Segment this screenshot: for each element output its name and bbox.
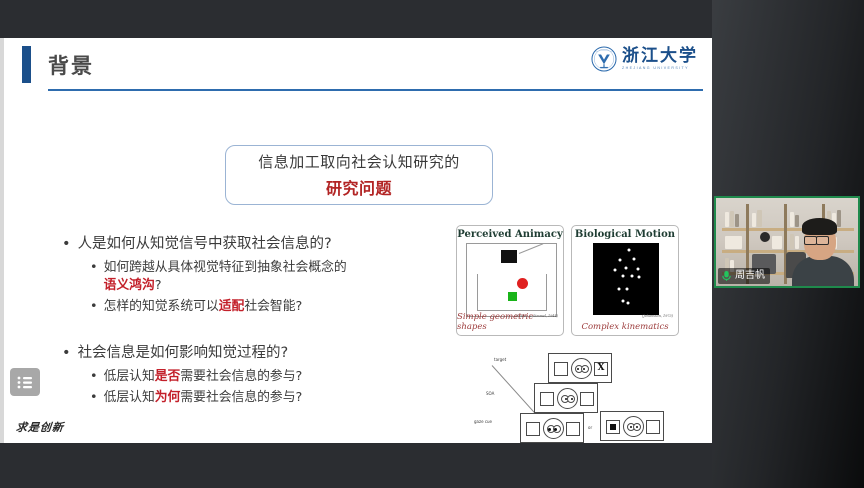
panel-citation: (Johansson, 1973)	[642, 314, 673, 318]
panel-biological-motion: Biological Motion	[571, 225, 679, 336]
book	[757, 210, 762, 227]
sub-bullet: • 怎样的知觉系统可以适配社会智能?	[90, 298, 462, 317]
person-hair	[802, 218, 837, 235]
bottom-letterbox-bar	[0, 443, 712, 488]
slide-menu-button[interactable]	[10, 368, 40, 396]
green-square-shape	[508, 292, 517, 301]
bullet-marker: •	[62, 234, 71, 256]
logo-english-name: ZHEJIANG UNIVERSITY	[622, 67, 698, 71]
left-pupil	[577, 368, 580, 371]
heider-simmel-figure	[466, 243, 557, 317]
book	[795, 236, 799, 249]
left-pupil	[548, 428, 551, 431]
bullet-marker: •	[90, 298, 98, 317]
target-box-left	[606, 420, 620, 434]
bullet-lead-text: 社会信息是如何影响知觉过程的?	[78, 343, 289, 365]
gaze-cueing-diagram: target SOA gaze cue fixation or X	[470, 351, 700, 443]
highlight-term: 是否	[155, 369, 181, 384]
list-menu-icon	[17, 376, 33, 389]
eyeglasses-right	[816, 236, 829, 245]
right-eye	[567, 395, 575, 403]
bullet-marker: •	[90, 389, 98, 408]
sub-bullet: • 如何跨越从具体视觉特征到抽象社会概念的语义鸿沟?	[90, 259, 462, 296]
label-or: or	[588, 425, 592, 430]
right-pupil	[554, 428, 557, 431]
right-eye	[581, 365, 589, 373]
storage-box	[772, 236, 782, 249]
title-accent-bar	[22, 46, 31, 83]
right-placeholder-box	[646, 420, 660, 434]
right-pupil	[583, 368, 586, 371]
book	[730, 211, 734, 227]
right-eye	[633, 423, 641, 431]
sub-bullet-text: 低层认知为何需要社会信息的参与?	[104, 389, 303, 408]
book	[795, 215, 799, 227]
book	[790, 234, 794, 249]
left-placeholder-box	[540, 392, 554, 406]
top-letterbox-bar	[0, 0, 712, 38]
door-line	[519, 243, 543, 254]
left-placeholder-box	[554, 362, 568, 376]
storage-box	[725, 236, 742, 249]
trial-frame-target: X	[548, 353, 612, 383]
panel-perceived-animacy: Perceived Animacy (Heider & Simmel, 1944…	[456, 225, 564, 336]
label-target: target	[494, 357, 506, 362]
face-stimulus	[543, 418, 564, 439]
right-pupil	[571, 398, 574, 401]
book	[837, 210, 841, 227]
research-question-box: 信息加工取向社会认知研究的 研究问题	[225, 145, 493, 205]
left-placeholder-box	[526, 422, 540, 436]
point-light-walker-figure	[593, 243, 659, 315]
right-placeholder-box	[580, 392, 594, 406]
right-placeholder-box	[566, 422, 580, 436]
face-stimulus	[557, 388, 578, 409]
red-circle-shape	[517, 278, 528, 289]
right-eye	[553, 425, 561, 433]
highlight-term: 适配	[219, 299, 245, 314]
book	[735, 214, 739, 227]
decor-sphere	[760, 232, 770, 242]
panel-heading: Perceived Animacy	[457, 229, 563, 240]
sub-bullet: • 低层认知是否需要社会信息的参与?	[90, 368, 462, 387]
panel-caption: Complex kinematics	[581, 322, 668, 332]
bullet-list: • 人是如何从知觉信号中获取社会信息的? • 如何跨越从具体视觉特征到抽象社会概…	[62, 234, 462, 409]
university-motto: 求是创新	[15, 419, 65, 435]
highlight-term: 为何	[155, 390, 181, 405]
highlight-term: 语义鸿沟	[104, 278, 155, 293]
black-square-shape	[501, 250, 517, 263]
logo-chinese-name: 浙江大学	[622, 48, 698, 65]
bullet-group-2: • 社会信息是如何影响知觉过程的? • 低层认知是否需要社会信息的参与? • 低…	[62, 343, 462, 407]
book	[790, 212, 794, 227]
title-underline	[48, 89, 703, 91]
point-light-dots	[593, 243, 659, 315]
trial-frame-alternative-target	[600, 411, 664, 441]
book	[725, 212, 729, 227]
screen-share-window: 背景 浙江大学 ZHEJIANG UNIVERSITY 信息加工取向社会认知研究…	[0, 0, 864, 488]
sub-bullet-text: 如何跨越从具体视觉特征到抽象社会概念的语义鸿沟?	[104, 259, 347, 296]
bullet-lead: • 人是如何从知觉信号中获取社会信息的?	[62, 234, 462, 256]
person-torso	[792, 256, 854, 288]
face-stimulus	[623, 416, 644, 437]
microphone-icon	[721, 270, 732, 282]
bullet-lead: • 社会信息是如何影响知觉过程的?	[62, 343, 462, 365]
participant-video-tile[interactable]: 周吉帆	[714, 196, 860, 288]
presentation-slide: 背景 浙江大学 ZHEJIANG UNIVERSITY 信息加工取向社会认知研究…	[4, 38, 712, 443]
label-gaze-cue: gaze cue	[474, 419, 492, 424]
target-box: X	[594, 362, 608, 376]
participant-name-chip: 周吉帆	[718, 268, 770, 284]
research-question-line2: 研究问题	[326, 175, 392, 199]
right-pupil	[636, 426, 639, 429]
target-square	[610, 424, 616, 430]
bullet-group-1: • 人是如何从知觉信号中获取社会信息的? • 如何跨越从具体视觉特征到抽象社会概…	[62, 234, 462, 316]
bullet-marker: •	[62, 343, 71, 365]
bullet-marker: •	[90, 368, 98, 387]
sub-bullet-text: 怎样的知觉系统可以适配社会智能?	[104, 298, 303, 317]
sub-bullet-text: 低层认知是否需要社会信息的参与?	[104, 368, 303, 387]
panel-heading: Biological Motion	[575, 229, 675, 240]
trial-frame-gaze-cue	[520, 413, 584, 443]
sub-bullet: • 低层认知为何需要社会信息的参与?	[90, 389, 462, 408]
book	[752, 213, 756, 227]
bullet-marker: •	[90, 259, 98, 296]
zhejiang-university-seal-icon	[591, 46, 617, 72]
university-logo: 浙江大学 ZHEJIANG UNIVERSITY	[591, 46, 698, 72]
left-pupil	[630, 426, 633, 429]
bullet-lead-text: 人是如何从知觉信号中获取社会信息的?	[78, 234, 332, 256]
panel-caption: Simple geometric shapes	[457, 312, 563, 332]
research-question-line1: 信息加工取向社会认知研究的	[258, 151, 460, 172]
face-stimulus	[571, 358, 592, 379]
figure-panels: Perceived Animacy (Heider & Simmel, 1944…	[456, 225, 679, 336]
participant-name: 周吉帆	[735, 271, 765, 281]
trial-frame-soa	[534, 383, 598, 413]
page-title: 背景	[48, 50, 94, 80]
target-letter: X	[598, 363, 605, 373]
label-soa: SOA	[486, 391, 494, 396]
